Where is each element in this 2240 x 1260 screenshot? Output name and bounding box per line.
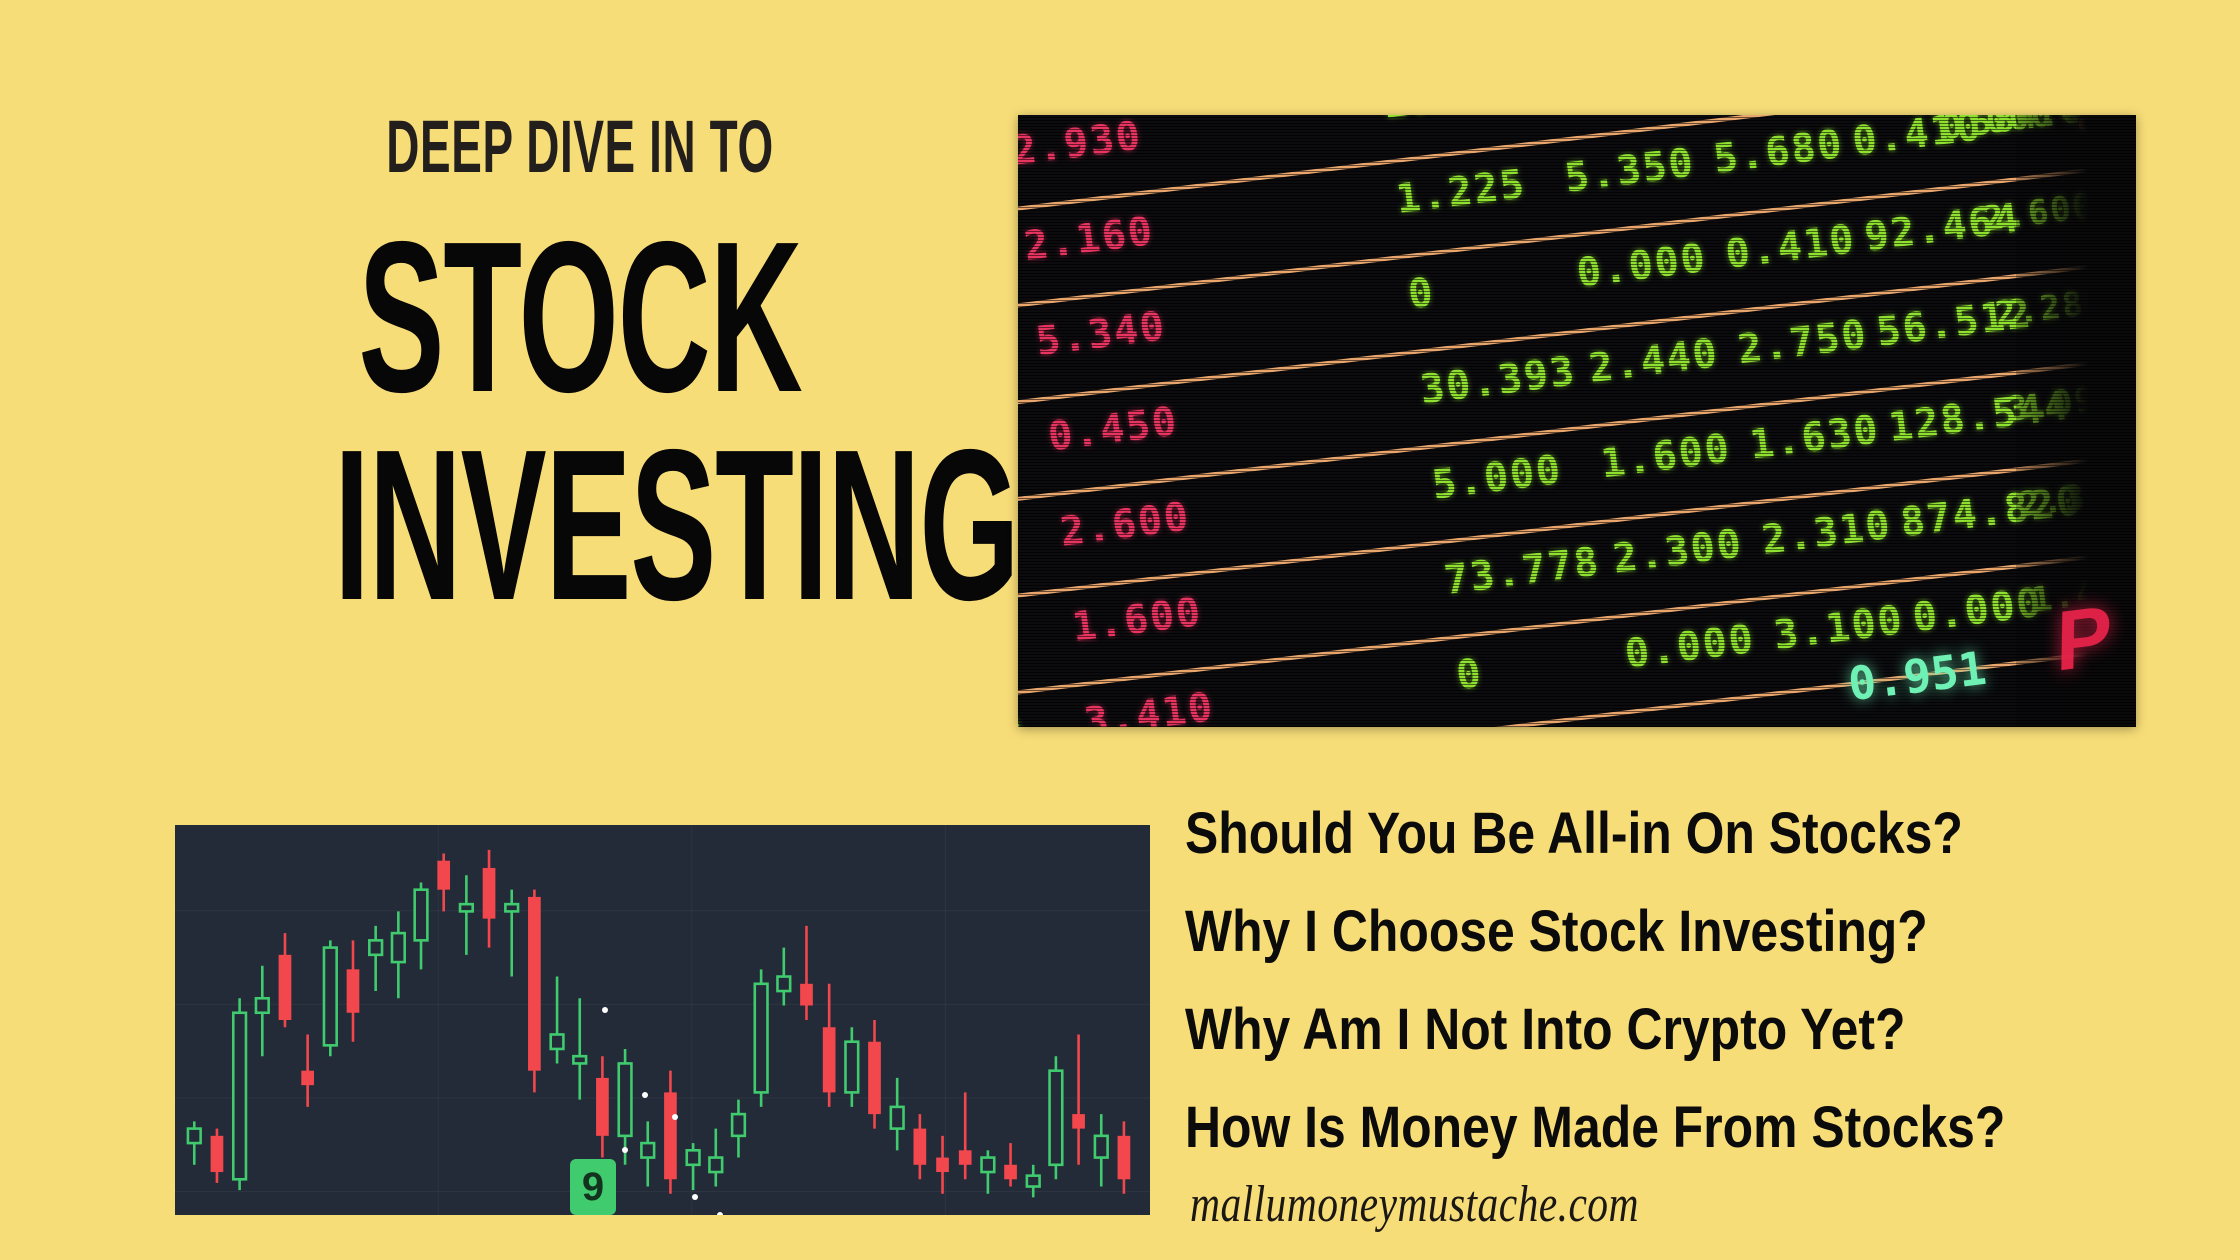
candlestick (868, 1020, 881, 1129)
ticker-cell-price-down: 0.450 (1046, 398, 1181, 460)
candlestick (528, 890, 541, 1093)
candlestick (959, 1092, 972, 1179)
candlestick (596, 1056, 609, 1157)
ticker-cell-price-down: 2.930 (1018, 115, 1145, 175)
chart-marker-dot (692, 1194, 698, 1200)
candlestick (551, 977, 564, 1064)
candlestick (800, 926, 813, 1020)
ticker-cell-value: 0.410 (1723, 216, 1858, 278)
candlestick (573, 998, 586, 1099)
website-url: mallumoneymustache.com (1190, 1175, 1639, 1234)
candlestick (1072, 1034, 1085, 1164)
question-item-2: Why I Choose Stock Investing? (1185, 903, 2054, 961)
candlestick (188, 1121, 201, 1164)
poster-canvas: DEEP DIVE IN TO STOCK INVESTING 62.93027… (0, 0, 2240, 1260)
candlestick (347, 940, 360, 1041)
ticker-cell-value: 2.310 (1759, 502, 1894, 564)
candlestick (891, 1078, 904, 1150)
candlestick (460, 875, 473, 955)
candlestick (415, 882, 428, 969)
candlestick (256, 966, 269, 1056)
candlestick (845, 1027, 858, 1107)
ticker-cell-value: 3.100 (1771, 597, 1906, 659)
headline-title-line-1: STOCK (334, 218, 826, 416)
ticker-cell-value: 0 (1454, 650, 1486, 699)
ticker-cell-price-down: 5.340 (1034, 303, 1169, 365)
chart-marker-dot (642, 1092, 648, 1098)
candlestick (483, 850, 496, 948)
ticker-cell-value: 0.000 (1574, 235, 1709, 297)
ticker-cell-value: 30.393 (1418, 348, 1579, 413)
stock-ticker-board-image: 62.93027.0002.1802.44.5005.4500.000شركة … (1018, 115, 2136, 727)
ticker-cell-symbol: 0 (1018, 708, 1027, 727)
candlestick (1027, 1165, 1040, 1198)
candlestick-svg (175, 825, 1150, 1215)
ticker-cell-value: 2.440 (1586, 330, 1721, 392)
candlestick (982, 1150, 995, 1193)
candlestick (369, 926, 382, 991)
candlestick (392, 911, 405, 998)
chart-marker-dot (622, 1147, 628, 1153)
candlestick (664, 1071, 677, 1194)
ticker-cell-value: 2.300 (1610, 521, 1745, 583)
candlestick (732, 1100, 745, 1158)
candlestick (914, 1114, 927, 1179)
candlestick (505, 890, 518, 977)
chart-marker-dot (602, 1007, 608, 1013)
candlestick (777, 948, 790, 1006)
ticker-cell-value: 2.750 (1735, 311, 1870, 373)
ticker-rows-container: 62.93027.0002.1802.44.5005.4500.000شركة … (1018, 115, 2136, 727)
ticker-cell-value: 1.600 (1598, 425, 1733, 487)
ticker-cell-value: 1.225 (1394, 161, 1529, 223)
ticker-cell-price-down: 3.410 (1082, 684, 1217, 727)
ticker-cell-value: 5.000 (1430, 447, 1565, 509)
question-list: Should You Be All-in On Stocks? Why I Ch… (1185, 805, 2195, 1197)
ticker-cell-value: 5.680 (1711, 121, 1846, 183)
candlestick (709, 1129, 722, 1187)
chart-last-price-badge: 9 (570, 1159, 616, 1215)
ticker-cell-price-down: 1.600 (1070, 589, 1205, 651)
candlestick (324, 940, 337, 1056)
candlestick (301, 1034, 314, 1106)
candlestick (687, 1143, 700, 1190)
candlestick (1050, 1056, 1063, 1179)
chart-marker-dot (672, 1114, 678, 1120)
headline-block: DEEP DIVE IN TO STOCK INVESTING (170, 110, 990, 624)
question-item-3: Why Am I Not Into Crypto Yet? (1185, 1001, 2054, 1059)
candlestick (755, 969, 768, 1107)
ticker-cell-price-down: 2.160 (1021, 208, 1156, 270)
question-item-4: How Is Money Made From Stocks? (1185, 1099, 2054, 1157)
ticker-red-glyph: P (2055, 586, 2112, 691)
ticker-cell-value: 73.778 (1442, 539, 1603, 604)
headline-title-line-2: INVESTING (334, 426, 826, 624)
headline-kicker: DEEP DIVE IN TO (326, 110, 834, 184)
ticker-cell-value: 0 (1406, 269, 1438, 318)
candlestick (641, 1121, 654, 1186)
chart-marker-dot (717, 1212, 723, 1215)
question-item-1: Should You Be All-in On Stocks? (1185, 805, 2054, 863)
ticker-cell-price-down: 2.600 (1058, 494, 1193, 556)
ticker-cell-value: 0.000 (1622, 616, 1757, 678)
candlestick (1004, 1143, 1017, 1186)
candlestick (279, 933, 292, 1027)
candlestick (211, 1129, 224, 1183)
ticker-cell-value: 1.630 (1747, 407, 1882, 469)
candlestick (1118, 1121, 1131, 1193)
candlestick (437, 853, 450, 911)
candlestick (1095, 1114, 1108, 1186)
candlestick-chart: 老虎證券 TIGER TRADE 9 (175, 825, 1150, 1215)
candlestick (936, 1136, 949, 1194)
candlestick (233, 998, 246, 1190)
ticker-cell-value: 27.000 (1382, 115, 1543, 128)
candlestick (823, 984, 836, 1107)
ticker-cell-value: 5.350 (1562, 140, 1697, 202)
